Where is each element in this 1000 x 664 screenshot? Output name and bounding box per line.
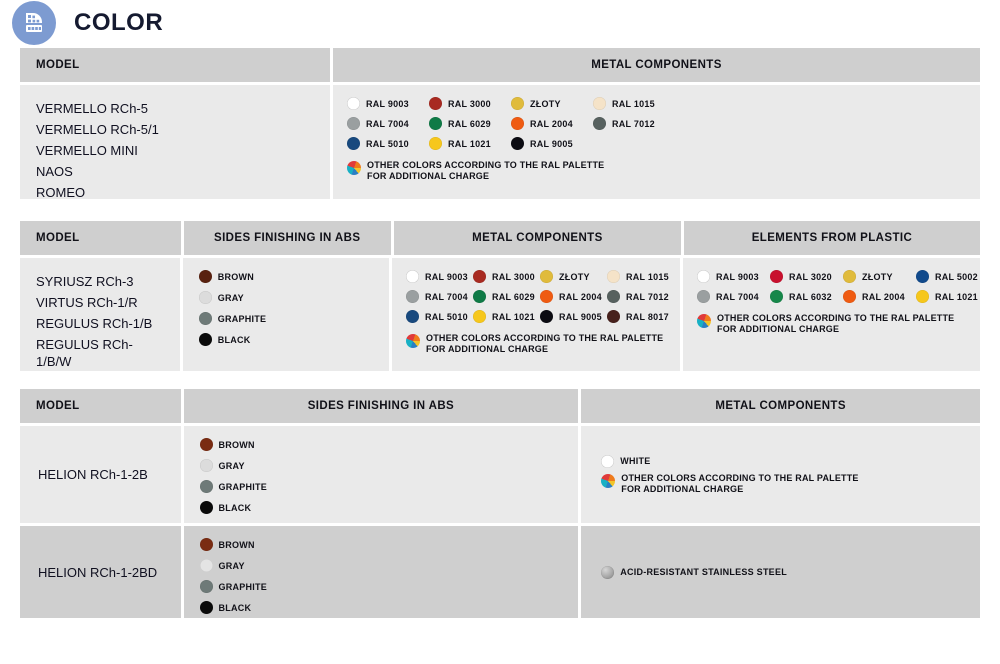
color-swatch-dot [607, 270, 620, 283]
other-colors-note-text: OTHER COLORS ACCORDING TO THE RAL PALETT… [621, 473, 858, 495]
color-swatch: RAL 1021 [916, 290, 985, 303]
color-swatch-dot [540, 310, 553, 323]
color-swatch-label: GRAY [219, 461, 245, 471]
color-swatch-label: RAL 9003 [366, 99, 409, 109]
color-swatch-dot [916, 270, 929, 283]
color-swatch-label: RAL 1021 [448, 139, 491, 149]
color-swatch-label: GRAY [219, 561, 245, 571]
table-row: HELION RCh-1-2B BROWNGRAYGRAPHITEBLACK W… [20, 426, 980, 523]
color-swatch-label: RAL 3000 [448, 99, 491, 109]
color-swatch-label: GRAPHITE [218, 314, 267, 324]
color-swatch-label: BROWN [218, 272, 254, 282]
color-swatch-label: RAL 6029 [448, 119, 491, 129]
color-swatch: RAL 2004 [511, 117, 589, 130]
color-swatch-dot [200, 501, 213, 514]
color-swatch: ZŁOTY [843, 270, 912, 283]
color-swatch-dot [429, 117, 442, 130]
color-swatch: RAL 6029 [473, 290, 536, 303]
color-swatch: RAL 3000 [473, 270, 536, 283]
color-swatch-label: RAL 7004 [716, 292, 759, 302]
stainless-steel-label: ACID-RESISTANT STAINLESS STEEL [620, 567, 787, 577]
cell-model: HELION RCh-1-2BD [20, 526, 181, 618]
color-swatch-label: GRAY [218, 293, 244, 303]
column-header-sides-finishing-abs: SIDES FINISHING IN ABS [184, 389, 579, 423]
color-swatch-label: RAL 5002 [935, 272, 978, 282]
color-swatch: BROWN [200, 538, 563, 551]
color-swatch: RAL 9005 [540, 310, 603, 323]
column-header-model: MODEL [20, 48, 330, 82]
color-swatch: WHITE [601, 455, 964, 468]
color-swatch: RAL 2004 [843, 290, 912, 303]
color-swatch: RAL 1021 [473, 310, 536, 323]
color-swatch-label: RAL 2004 [862, 292, 905, 302]
table-header-row: MODEL SIDES FINISHING IN ABS METAL COMPO… [20, 389, 980, 423]
column-header-metal-components: METAL COMPONENTS [333, 48, 980, 82]
color-swatch-dot [200, 580, 213, 593]
color-swatch-label: GRAPHITE [219, 582, 268, 592]
color-swatch: GRAPHITE [199, 312, 373, 325]
color-swatch-dot [429, 97, 442, 110]
model-list: VERMELLO RCh-5 VERMELLO RCh-5/1 VERMELLO… [36, 97, 314, 201]
color-swatch-dot [347, 117, 360, 130]
cell-model: HELION RCh-1-2B [20, 426, 181, 523]
cell-metal-components: RAL 9003RAL 3000ZŁOTYRAL 1015RAL 7004RAL… [333, 85, 980, 199]
color-swatch-dot [200, 559, 213, 572]
color-swatch-label: BROWN [219, 540, 255, 550]
cell-metal-components: RAL 9003RAL 3000ZŁOTYRAL 1015RAL 7004RAL… [392, 258, 680, 371]
color-swatch-dot [607, 310, 620, 323]
color-swatch-label: RAL 3000 [492, 272, 535, 282]
color-swatch-label: RAL 2004 [559, 292, 602, 302]
column-header-model: MODEL [20, 221, 181, 255]
color-swatch: RAL 9005 [511, 137, 589, 150]
color-table-helion: MODEL SIDES FINISHING IN ABS METAL COMPO… [20, 389, 980, 618]
color-swatch-label: RAL 1021 [492, 312, 535, 322]
list-item: HELION RCh-1-2B [36, 438, 165, 511]
other-colors-note: OTHER COLORS ACCORDING TO THE RAL PALETT… [601, 473, 964, 495]
color-swatch: RAL 6029 [429, 117, 507, 130]
color-swatch: BLACK [200, 601, 563, 614]
color-swatch: RAL 6032 [770, 290, 839, 303]
stainless-steel-swatch: ACID-RESISTANT STAINLESS STEEL [601, 566, 787, 579]
color-swatch-label: RAL 2004 [530, 119, 573, 129]
model-list: SYRIUSZ RCh-3 VIRTUS RCh-1/R REGULUS RCh… [36, 270, 164, 370]
color-swatch-dot [347, 137, 360, 150]
color-swatch-dot [406, 310, 419, 323]
color-swatch-label: BLACK [218, 335, 251, 345]
color-swatch-label: RAL 8017 [626, 312, 669, 322]
table-header-row: MODEL METAL COMPONENTS [20, 48, 980, 82]
list-item: VERMELLO RCh-5 [36, 100, 314, 117]
color-swatch-label: RAL 7012 [612, 119, 655, 129]
color-swatch-dot [199, 270, 212, 283]
color-swatch: GRAPHITE [200, 580, 563, 593]
color-swatch: BLACK [199, 333, 373, 346]
column-header-metal-components: METAL COMPONENTS [581, 389, 980, 423]
table-header-row: MODEL SIDES FINISHING IN ABS METAL COMPO… [20, 221, 980, 255]
cell-sides-finishing-abs: BROWNGRAYGRAPHITEBLACK [184, 526, 579, 618]
color-swatch-label: RAL 5010 [425, 312, 468, 322]
color-swatch: RAL 3020 [770, 270, 839, 283]
page-header: COLOR [0, 0, 1000, 48]
other-colors-note-text: OTHER COLORS ACCORDING TO THE RAL PALETT… [426, 333, 663, 355]
color-swatch-label: BLACK [219, 503, 252, 513]
color-swatch-dot [697, 290, 710, 303]
column-header-metal-components: METAL COMPONENTS [394, 221, 681, 255]
page-title: COLOR [74, 9, 163, 37]
color-swatch-dot [200, 480, 213, 493]
color-swatch-label: RAL 9005 [530, 139, 573, 149]
column-header-elements-from-plastic: ELEMENTS FROM PLASTIC [684, 221, 980, 255]
color-swatch-label: RAL 9003 [425, 272, 468, 282]
color-swatch: RAL 5002 [916, 270, 985, 283]
color-swatch-dot [199, 312, 212, 325]
color-swatch-dot [601, 455, 614, 468]
list-item: HELION RCh-1-2BD [36, 538, 165, 606]
color-swatch-dot [540, 270, 553, 283]
color-swatch: RAL 1021 [429, 137, 507, 150]
color-swatch-dot [540, 290, 553, 303]
color-swatch-label: RAL 6032 [789, 292, 832, 302]
color-swatch-dot [406, 270, 419, 283]
color-swatch-dot [511, 97, 524, 110]
color-swatch: RAL 3000 [429, 97, 507, 110]
list-item: ROMEO [36, 184, 314, 201]
color-swatch-label: BLACK [219, 603, 252, 613]
color-swatch-dot [593, 97, 606, 110]
column-header-model: MODEL [20, 389, 181, 423]
color-table-vermello: MODEL METAL COMPONENTS VERMELLO RCh-5 VE… [20, 48, 980, 199]
color-swatch-label: RAL 1021 [935, 292, 978, 302]
color-swatch-label: ZŁOTY [530, 99, 561, 109]
color-swatch-dot [347, 97, 360, 110]
color-swatch: RAL 7012 [607, 290, 670, 303]
color-swatch-dot [511, 137, 524, 150]
color-swatch: RAL 2004 [540, 290, 603, 303]
color-swatch-dot [593, 117, 606, 130]
color-swatch: RAL 7012 [593, 117, 671, 130]
column-header-sides-finishing-abs: SIDES FINISHING IN ABS [184, 221, 391, 255]
color-swatch-dot [843, 290, 856, 303]
color-swatch: BROWN [200, 438, 563, 451]
other-colors-note: OTHER COLORS ACCORDING TO THE RAL PALETT… [406, 333, 664, 355]
table-body: VERMELLO RCh-5 VERMELLO RCh-5/1 VERMELLO… [20, 85, 980, 199]
color-swatch-label: RAL 6029 [492, 292, 535, 302]
color-swatch: RAL 7004 [697, 290, 766, 303]
color-swatch-label: RAL 1015 [612, 99, 655, 109]
color-swatch: RAL 1015 [607, 270, 670, 283]
color-swatch-label: WHITE [620, 456, 650, 466]
list-item: VERMELLO RCh-5/1 [36, 121, 314, 138]
color-swatch-label: RAL 7012 [626, 292, 669, 302]
color-swatch: RAL 1015 [593, 97, 671, 110]
color-fan-icon [12, 1, 56, 45]
color-swatch-label: BROWN [219, 440, 255, 450]
list-item: SYRIUSZ RCh-3 [36, 273, 164, 290]
cell-metal-components: WHITE OTHER COLORS ACCORDING TO THE RAL … [581, 426, 980, 523]
color-swatch: RAL 9003 [697, 270, 766, 283]
color-swatch: ZŁOTY [540, 270, 603, 283]
color-swatch: GRAY [200, 559, 563, 572]
color-swatch: RAL 5010 [347, 137, 425, 150]
cell-metal-components: ACID-RESISTANT STAINLESS STEEL [581, 526, 980, 618]
color-swatch-dot [200, 601, 213, 614]
color-swatch-dot [843, 270, 856, 283]
color-table-syriusz: MODEL SIDES FINISHING IN ABS METAL COMPO… [20, 221, 980, 371]
list-item: NAOS [36, 163, 314, 180]
list-item: REGULUS RCh-1/B/W [36, 336, 164, 370]
color-swatch-label: ZŁOTY [559, 272, 590, 282]
color-swatch-dot [511, 117, 524, 130]
color-swatch-dot [199, 333, 212, 346]
cell-models: SYRIUSZ RCh-3 VIRTUS RCh-1/R REGULUS RCh… [20, 258, 180, 371]
other-colors-note-text: OTHER COLORS ACCORDING TO THE RAL PALETT… [367, 160, 604, 182]
other-colors-note: OTHER COLORS ACCORDING TO THE RAL PALETT… [697, 313, 964, 335]
color-swatch-dot [697, 270, 710, 283]
color-swatch-dot [473, 310, 486, 323]
color-swatch-label: RAL 3020 [789, 272, 832, 282]
table-body: SYRIUSZ RCh-3 VIRTUS RCh-1/R REGULUS RCh… [20, 258, 980, 371]
color-swatch-dot [429, 137, 442, 150]
other-colors-note-text: OTHER COLORS ACCORDING TO THE RAL PALETT… [717, 313, 954, 335]
other-colors-note: OTHER COLORS ACCORDING TO THE RAL PALETT… [347, 160, 964, 182]
color-swatch: GRAY [199, 291, 373, 304]
color-swatch-label: RAL 7004 [366, 119, 409, 129]
cell-elements-from-plastic: RAL 9003RAL 3020ZŁOTYRAL 5002RAL 7004RAL… [683, 258, 980, 371]
color-swatch: BROWN [199, 270, 373, 283]
color-swatch: RAL 5010 [406, 310, 469, 323]
color-swatch: BLACK [200, 501, 563, 514]
color-swatch-dot [200, 459, 213, 472]
list-item: VIRTUS RCh-1/R [36, 294, 164, 311]
color-swatch: GRAY [200, 459, 563, 472]
color-swatch: RAL 9003 [347, 97, 425, 110]
color-swatch-dot [406, 290, 419, 303]
color-swatch-label: GRAPHITE [219, 482, 268, 492]
stainless-steel-dot [601, 566, 614, 579]
ral-palette-icon [406, 334, 420, 348]
cell-models: VERMELLO RCh-5 VERMELLO RCh-5/1 VERMELLO… [20, 85, 330, 199]
color-swatch-label: RAL 9003 [716, 272, 759, 282]
color-swatch-dot [200, 538, 213, 551]
color-swatch-label: RAL 1015 [626, 272, 669, 282]
color-swatch-dot [607, 290, 620, 303]
color-swatch-dot [473, 290, 486, 303]
ral-palette-icon [601, 474, 615, 488]
color-swatch: GRAPHITE [200, 480, 563, 493]
color-swatch-dot [473, 270, 486, 283]
color-swatch-dot [916, 290, 929, 303]
cell-sides-finishing-abs: BROWNGRAYGRAPHITEBLACK [184, 426, 579, 523]
color-swatch-label: ZŁOTY [862, 272, 893, 282]
color-swatch-label: RAL 7004 [425, 292, 468, 302]
color-swatch: RAL 7004 [347, 117, 425, 130]
color-swatch-label: RAL 9005 [559, 312, 602, 322]
color-swatch-dot [770, 270, 783, 283]
color-swatch-label: RAL 5010 [366, 139, 409, 149]
color-swatch: ZŁOTY [511, 97, 589, 110]
table-row: HELION RCh-1-2BD BROWNGRAYGRAPHITEBLACK … [20, 526, 980, 618]
ral-palette-icon [347, 161, 361, 175]
color-swatch-dot [199, 291, 212, 304]
ral-palette-icon [697, 314, 711, 328]
list-item: VERMELLO MINI [36, 142, 314, 159]
color-swatch-dot [200, 438, 213, 451]
color-swatch: RAL 8017 [607, 310, 670, 323]
color-swatch-dot [770, 290, 783, 303]
list-item: REGULUS RCh-1/B [36, 315, 164, 332]
color-swatch: RAL 7004 [406, 290, 469, 303]
cell-sides-finishing-abs: BROWNGRAYGRAPHITEBLACK [183, 258, 389, 371]
color-swatch: RAL 9003 [406, 270, 469, 283]
